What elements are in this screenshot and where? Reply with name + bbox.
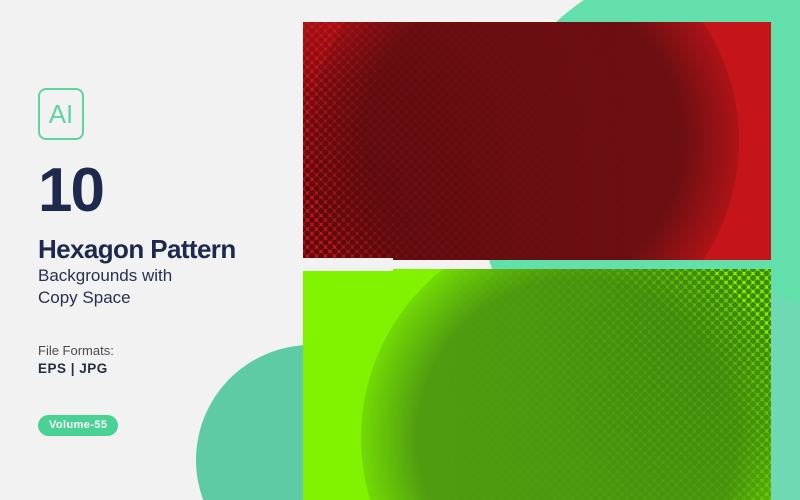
halftone-hexagon-overlay-red [303,22,771,260]
preview-panel-green[interactable] [303,269,771,500]
file-formats-label: File Formats: [38,343,114,358]
item-count: 10 [38,160,103,222]
hex-dot-layer-b [303,22,771,260]
adobe-illustrator-icon-label: AI [49,101,74,127]
halftone-hexagon-overlay-green [303,269,771,500]
preview-panel-red[interactable] [303,22,771,260]
page-title: Hexagon Pattern [38,236,236,262]
panel-separator-notch [303,258,393,271]
hex-dot-layer-b [303,269,771,500]
volume-badge: Volume-55 [38,415,118,436]
page-subtitle-line-1: Backgrounds with [38,265,172,286]
file-formats-value: EPS | JPG [38,361,108,376]
page-subtitle-line-2: Copy Space [38,287,131,308]
poster-canvas: AI 10 Hexagon Pattern Backgrounds with C… [0,0,800,500]
adobe-illustrator-icon: AI [38,88,84,140]
info-column: AI 10 Hexagon Pattern Backgrounds with C… [38,0,288,500]
